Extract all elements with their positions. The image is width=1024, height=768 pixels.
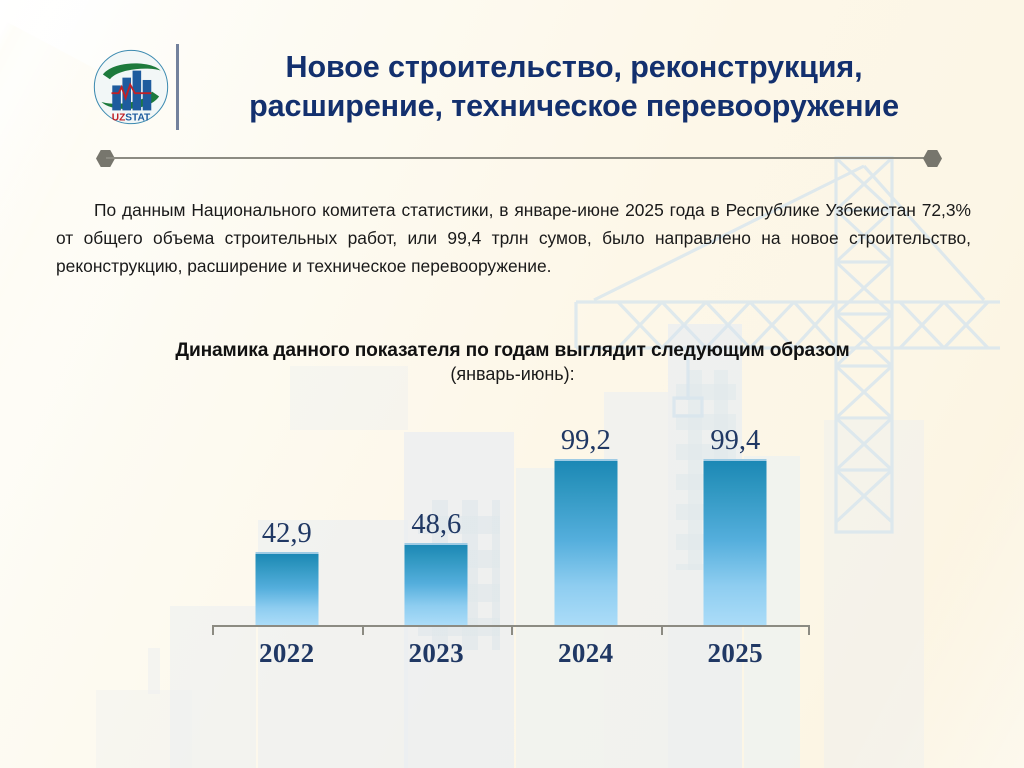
bar-2025[interactable]	[704, 459, 767, 625]
chart-category-labels: 2022 2023 2024 2025	[212, 638, 810, 678]
chart-column: 99,4	[661, 420, 811, 625]
page-title-line-2: расширение, техническое перевооружение	[190, 87, 958, 126]
svg-text:UZSTAT: UZSTAT	[112, 113, 151, 124]
x-label-2024: 2024	[511, 638, 661, 669]
x-label-2022: 2022	[212, 638, 362, 669]
chart-column: 48,6	[362, 420, 512, 625]
divider-line	[106, 157, 932, 159]
header-divider	[96, 148, 942, 168]
chart-column: 99,2	[511, 420, 661, 625]
page-title: Новое строительство, реконструкция, расш…	[190, 48, 958, 125]
logo-uz-text: UZ	[112, 113, 126, 124]
x-label-2025: 2025	[661, 638, 811, 669]
body-paragraph: По данным Национального комитета статист…	[56, 196, 971, 281]
bar-2024[interactable]	[554, 459, 617, 625]
axis-tick	[362, 625, 364, 635]
chart-x-axis	[212, 625, 810, 635]
x-label-2023: 2023	[362, 638, 512, 669]
bar-value-label: 48,6	[411, 509, 461, 541]
chart-heading-line-2: (январь-июнь):	[90, 364, 935, 385]
chart-column: 42,9	[212, 420, 362, 625]
bar-2022[interactable]	[255, 552, 318, 625]
axis-tick	[212, 625, 214, 635]
uzstat-logo: UZSTAT	[92, 48, 170, 126]
hexagon-right-icon	[923, 150, 942, 167]
slide-canvas: UZSTAT Новое строительство, реконструкци…	[0, 0, 1024, 768]
slide-header: UZSTAT Новое строительство, реконструкци…	[0, 0, 1024, 170]
bar-value-label: 42,9	[262, 518, 312, 550]
bar-value-label: 99,2	[561, 425, 611, 457]
title-vertical-rule	[176, 44, 179, 130]
building-watermark	[824, 420, 924, 768]
building-watermark	[96, 690, 192, 768]
axis-tick	[808, 625, 810, 635]
chart-plot-area: 42,9 48,6 99,2 99,4	[212, 420, 810, 625]
building-watermark	[148, 648, 160, 694]
axis-tick	[661, 625, 663, 635]
page-title-line-1: Новое строительство, реконструкция,	[190, 48, 958, 87]
logo-stat-text: STAT	[125, 113, 151, 124]
chart-heading: Динамика данного показателя по годам выг…	[90, 340, 935, 385]
axis-tick	[511, 625, 513, 635]
chart-heading-line-1: Динамика данного показателя по годам выг…	[90, 340, 935, 362]
bar-value-label: 99,4	[710, 425, 760, 457]
bar-2023[interactable]	[405, 543, 468, 625]
bar-chart: 42,9 48,6 99,2 99,4	[212, 420, 810, 670]
